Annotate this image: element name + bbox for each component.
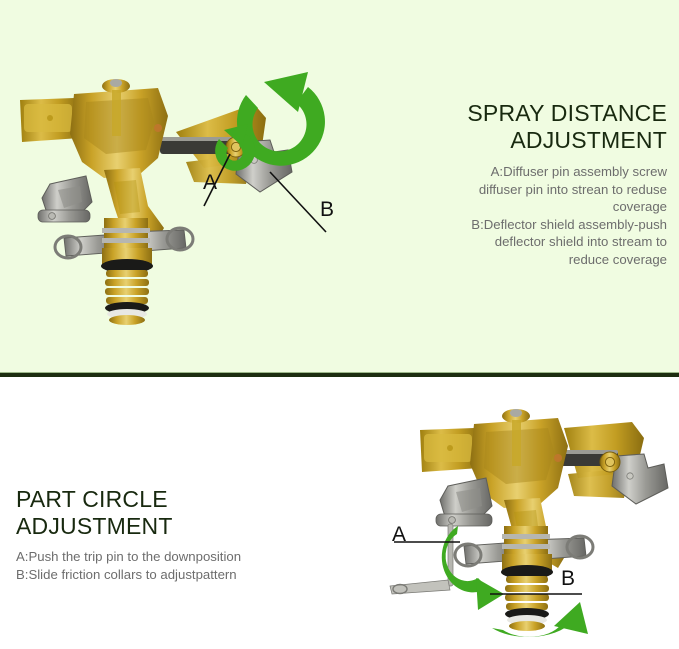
spray-distance-panel: A B SPRAY DISTANCE ADJUSTMENT A:Diffuser…	[0, 0, 679, 372]
callout-label-b-top: B	[320, 199, 334, 220]
spray-distance-text: SPRAY DISTANCE ADJUSTMENT A:Diffuser pin…	[399, 100, 667, 268]
spray-distance-body: A:Diffuser pin assembly screw diffuser p…	[399, 163, 667, 268]
sprinkler-photo-bottom	[382, 398, 674, 646]
part-circle-text: PART CIRCLE ADJUSTMENT A:Push the trip p…	[16, 486, 406, 583]
callout-label-a-top: A	[203, 172, 217, 193]
infographic-canvas: A B SPRAY DISTANCE ADJUSTMENT A:Diffuser…	[0, 0, 679, 649]
callout-label-b-bottom: B	[561, 568, 575, 589]
part-circle-title: PART CIRCLE ADJUSTMENT	[16, 486, 406, 540]
sprinkler-photo-top	[8, 42, 360, 332]
part-circle-body: A:Push the trip pin to the downposition …	[16, 548, 406, 583]
callout-label-a-bottom: A	[392, 524, 406, 545]
spray-distance-title: SPRAY DISTANCE ADJUSTMENT	[399, 100, 667, 154]
